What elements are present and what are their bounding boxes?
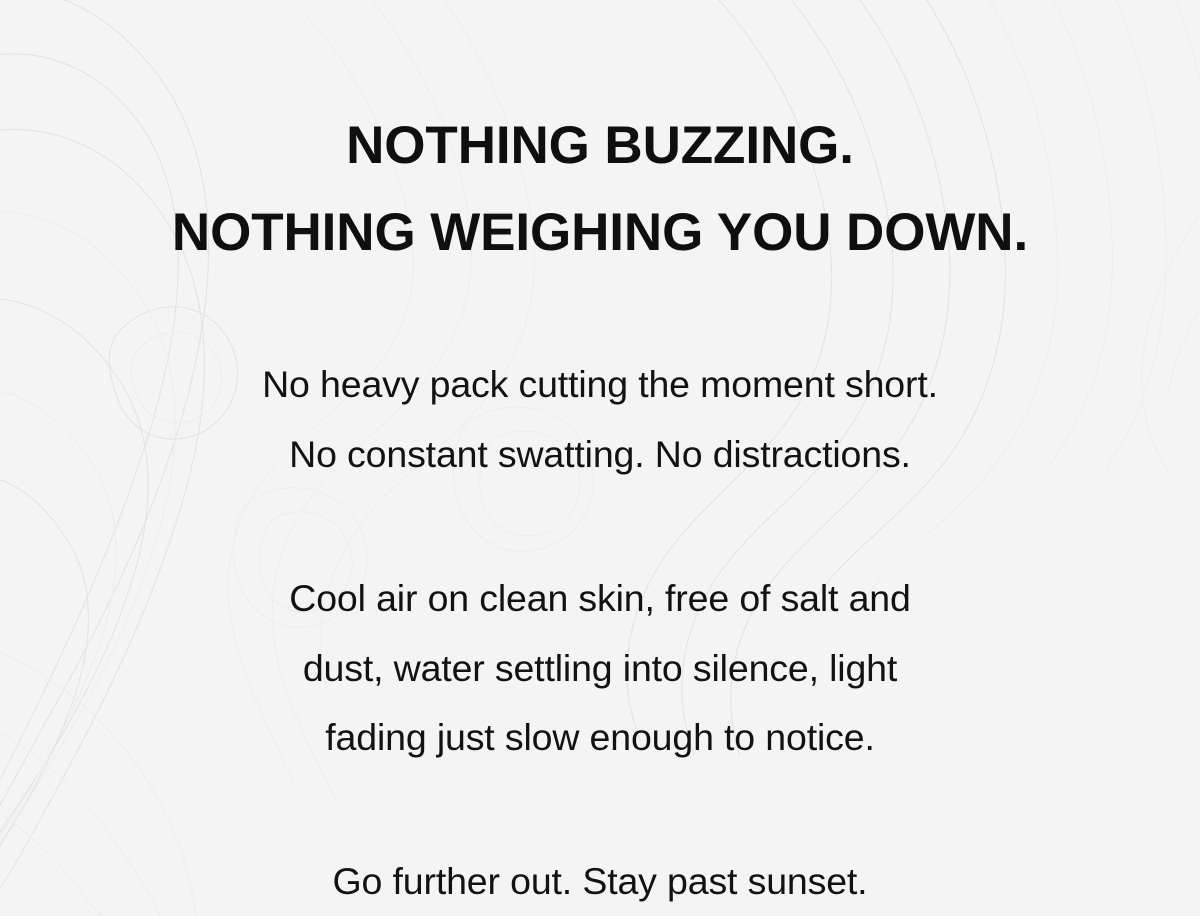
page-title: NOTHING BUZZING. NOTHING WEIGHING YOU DO… — [80, 102, 1120, 278]
body-paragraph-2: Cool air on clean skin, free of salt and… — [80, 564, 1120, 772]
body-paragraph-2-line-1: Cool air on clean skin, free of salt and — [80, 564, 1120, 633]
body-paragraph-2-line-3: fading just slow enough to notice. — [80, 703, 1120, 772]
body-paragraph-1-line-1: No heavy pack cutting the moment short. — [80, 350, 1120, 419]
headline-line-1: NOTHING BUZZING. — [80, 102, 1120, 190]
body-paragraph-1-line-2: No constant swatting. No distractions. — [80, 420, 1120, 489]
headline-line-2: NOTHING WEIGHING YOU DOWN. — [80, 189, 1120, 277]
body-paragraph-2-line-2: dust, water settling into silence, light — [80, 634, 1120, 703]
body-paragraph-3: Go further out. Stay past sunset. — [80, 847, 1120, 916]
body-paragraph-3-line-1: Go further out. Stay past sunset. — [80, 847, 1120, 916]
marketing-hero-panel: NOTHING BUZZING. NOTHING WEIGHING YOU DO… — [0, 0, 1200, 916]
hero-content: NOTHING BUZZING. NOTHING WEIGHING YOU DO… — [0, 0, 1200, 916]
body-paragraph-1: No heavy pack cutting the moment short. … — [80, 350, 1120, 489]
